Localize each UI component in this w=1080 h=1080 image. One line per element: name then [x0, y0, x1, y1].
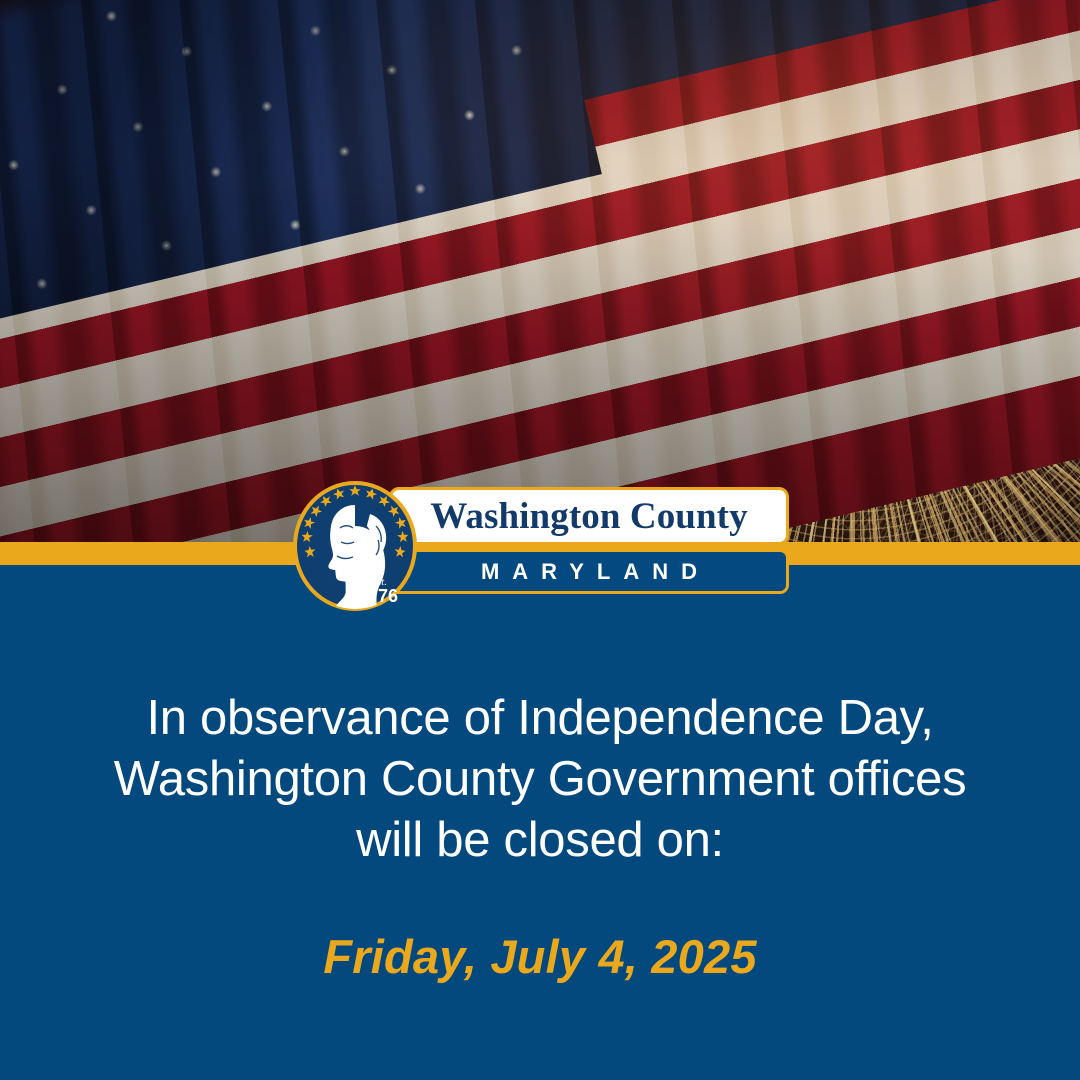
state-name-text: MARYLAND: [468, 561, 710, 583]
holiday-closure-poster: Washington County MARYLAND: [0, 0, 1080, 1080]
washington-county-logo[interactable]: Washington County MARYLAND: [292, 480, 792, 620]
seal-year-text: 1776: [358, 586, 398, 606]
closure-message-line-2: Washington County Government offices: [50, 749, 1030, 810]
county-name-text: Washington County: [430, 498, 747, 535]
flag-top-feather: [0, 0, 1080, 543]
closure-message-line-1: In observance of Independence Day,: [50, 688, 1030, 749]
closure-message-line-3: will be closed on:: [50, 810, 1030, 871]
closure-date: Friday, July 4, 2025: [50, 928, 1030, 986]
state-name-bar: MARYLAND: [389, 549, 789, 594]
closure-message: In observance of Independence Day, Washi…: [50, 688, 1030, 871]
american-flag: [0, 0, 1080, 543]
hero-fireworks-flag-image: [0, 0, 1080, 543]
county-seal-icon: est. 1776: [292, 480, 418, 612]
county-name-plaque: Washington County: [389, 487, 789, 545]
